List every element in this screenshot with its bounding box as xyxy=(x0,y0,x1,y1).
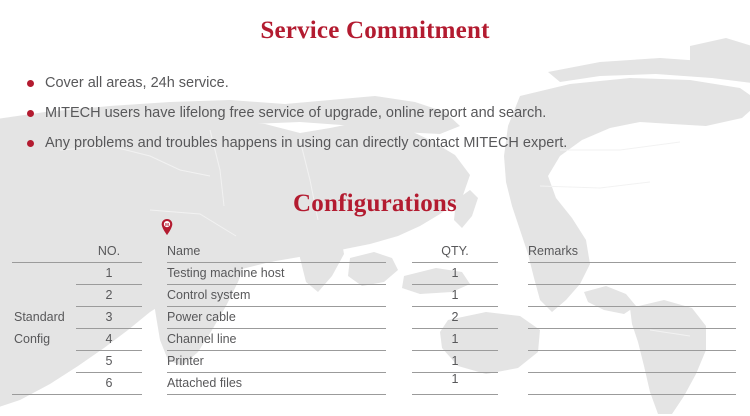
svg-text:M: M xyxy=(165,222,169,227)
group-label-config: Config xyxy=(14,332,50,346)
column-header-name: Name xyxy=(167,244,200,258)
rule-remarks-bottom xyxy=(528,394,736,395)
rule-remarks-row xyxy=(528,372,736,373)
configurations-table: NO. Name QTY. Remarks Standard Config 1 … xyxy=(0,240,750,410)
table-row-no: 5 xyxy=(76,354,142,368)
service-commitment-list: Cover all areas, 24h service. MITECH use… xyxy=(24,68,724,158)
rule-qty-row xyxy=(412,350,498,351)
table-row-qty: 1 xyxy=(412,266,498,280)
list-item-label: MITECH users have lifelong free service … xyxy=(45,104,546,122)
page-root: Service Commitment Cover all areas, 24h … xyxy=(0,0,750,416)
table-row-name: Power cable xyxy=(167,310,236,324)
table-row-qty: 1 xyxy=(412,332,498,346)
rule-name-row xyxy=(167,328,386,329)
rule-no-row xyxy=(76,372,142,373)
rule-name-bottom xyxy=(167,394,386,395)
list-item: Cover all areas, 24h service. xyxy=(24,68,724,98)
list-item: MITECH users have lifelong free service … xyxy=(24,98,724,128)
bullet-dot-icon xyxy=(27,110,34,117)
table-row-qty: 1 xyxy=(412,288,498,302)
table-row-qty: 2 xyxy=(412,310,498,324)
table-row-no: 6 xyxy=(76,376,142,390)
rule-name-row xyxy=(167,284,386,285)
table-row-name: Attached files xyxy=(167,376,242,390)
table-row-name: Testing machine host xyxy=(167,266,284,280)
rule-name-row xyxy=(167,350,386,351)
rule-remarks-row xyxy=(528,350,736,351)
table-row-no: 2 xyxy=(76,288,142,302)
rule-remarks-row xyxy=(528,306,736,307)
table-row-qty: 1 xyxy=(412,372,498,386)
rule-qty-row xyxy=(412,328,498,329)
rule-remarks-row xyxy=(528,284,736,285)
rule-remarks-row xyxy=(528,328,736,329)
table-row-qty: 1 xyxy=(412,354,498,368)
group-label-standard: Standard xyxy=(14,310,65,324)
rule-name-header xyxy=(167,262,386,263)
map-pin-icon: M xyxy=(161,219,173,235)
configurations-heading: Configurations xyxy=(0,189,750,219)
table-row-name: Printer xyxy=(167,354,204,368)
bullet-dot-icon xyxy=(27,140,34,147)
table-row-no: 1 xyxy=(76,266,142,280)
bullet-dot-icon xyxy=(27,80,34,87)
rule-qty-header xyxy=(412,262,498,263)
rule-no-row xyxy=(76,328,142,329)
list-item-label: Any problems and troubles happens in usi… xyxy=(45,134,567,152)
rule-qty-row xyxy=(412,306,498,307)
rule-remarks-header xyxy=(528,262,736,263)
table-row-no: 4 xyxy=(76,332,142,346)
rule-no-row xyxy=(76,306,142,307)
rule-name-row xyxy=(167,372,386,373)
rule-no-row xyxy=(76,284,142,285)
rule-qty-row xyxy=(412,284,498,285)
column-header-remarks: Remarks xyxy=(528,244,578,258)
column-header-qty: QTY. xyxy=(412,244,498,258)
rule-name-row xyxy=(167,306,386,307)
column-header-no: NO. xyxy=(76,244,142,258)
table-row-no: 3 xyxy=(76,310,142,324)
rule-no-row xyxy=(76,350,142,351)
list-item-label: Cover all areas, 24h service. xyxy=(45,74,229,92)
list-item: Any problems and troubles happens in usi… xyxy=(24,128,724,158)
service-commitment-heading: Service Commitment xyxy=(0,16,750,46)
rule-no-bottom xyxy=(12,394,142,395)
rule-no-header xyxy=(12,262,142,263)
table-row-name: Channel line xyxy=(167,332,237,346)
table-row-name: Control system xyxy=(167,288,250,302)
rule-qty-bottom xyxy=(412,394,498,395)
